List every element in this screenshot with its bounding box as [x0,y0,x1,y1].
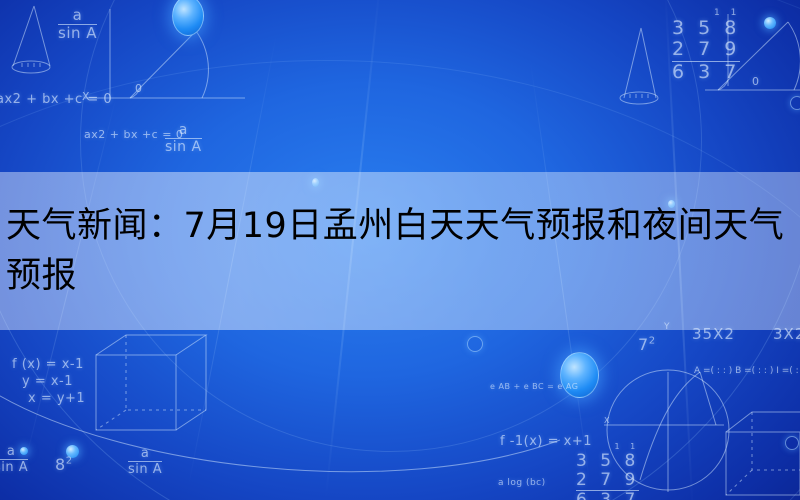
formula-law-of-sines: a sin A [128,447,162,476]
fraction-numerator: a [165,123,202,138]
axis-label-x: X [604,416,610,425]
formula-line: x = y+1 [12,390,85,407]
addition-sum: 6 3 7 [576,490,639,500]
wireframe-cone [620,28,658,104]
wireframe-cube [726,412,800,495]
power-exponent: 2 [649,336,656,347]
glow-bubble-ring [790,96,800,110]
addition-addend: 3 5 8 [672,18,740,39]
axis-label-x: X [82,90,90,103]
formula-line: f (x) = x-1 [12,356,85,373]
formula-power: 82 [55,455,73,474]
glow-bubble [764,17,776,29]
wireframe-cone [12,6,50,73]
formula-law-of-sines: a sin A [165,123,202,154]
formula-function: f (x) = x-1 y = x-1 x = y+1 [12,356,85,407]
formula-matrix-row: A =( : : ) B =( : : ) I =( : : [694,366,800,376]
angle-label: 0 [752,75,760,88]
formula-quadratic: ax2 + bx +c = 0 [0,92,112,107]
title-band-content: 天气新闻：7月19日孟州白天天气预报和夜间天气预报 [0,172,800,330]
angle-arc-diagram [85,9,245,100]
addition-sum: 6 3 7 [672,61,740,83]
addition-addend: 2 7 9 [672,39,740,60]
banner-image: ax2 + bx +c = 0 ax2 + bx +c = 0 a sin A … [0,0,800,500]
glow-bubble-ring [467,336,483,352]
formula-logarithm: a log (bc) [498,478,546,488]
formula-vectors: e AB + e BC = e AG [490,382,578,391]
addition-addend: 3 5 8 [576,452,639,471]
formula-law-of-sines: a sin A [0,445,28,474]
glow-bubble-ring [785,436,799,450]
power-exponent: 2 [66,456,73,467]
fraction-denominator: sin A [58,24,97,42]
fraction-denominator: sin A [0,459,28,475]
long-addition: 1 1 3 5 8 2 7 9 6 3 7 [576,443,639,500]
glow-bubble [560,352,599,398]
fraction-numerator: a [58,8,97,24]
power-base: 8 [55,455,66,474]
headline-text: 天气新闻：7月19日孟州白天天气预报和夜间天气预报 [0,201,800,301]
fraction-denominator: sin A [165,138,202,155]
fraction-denominator: sin A [128,461,162,477]
formula-line: y = x-1 [12,373,85,390]
long-addition: 1 1 3 5 8 2 7 9 6 3 7 [672,8,740,83]
angle-label: 0 [135,82,143,95]
formula-power: 72 [638,335,656,354]
power-base: 7 [638,335,649,354]
formula-law-of-sines: a sin A [58,8,97,42]
addition-addend: 2 7 9 [576,471,639,490]
fraction-numerator: a [0,445,28,459]
fraction-numerator: a [128,447,162,461]
wireframe-cube [96,335,206,430]
